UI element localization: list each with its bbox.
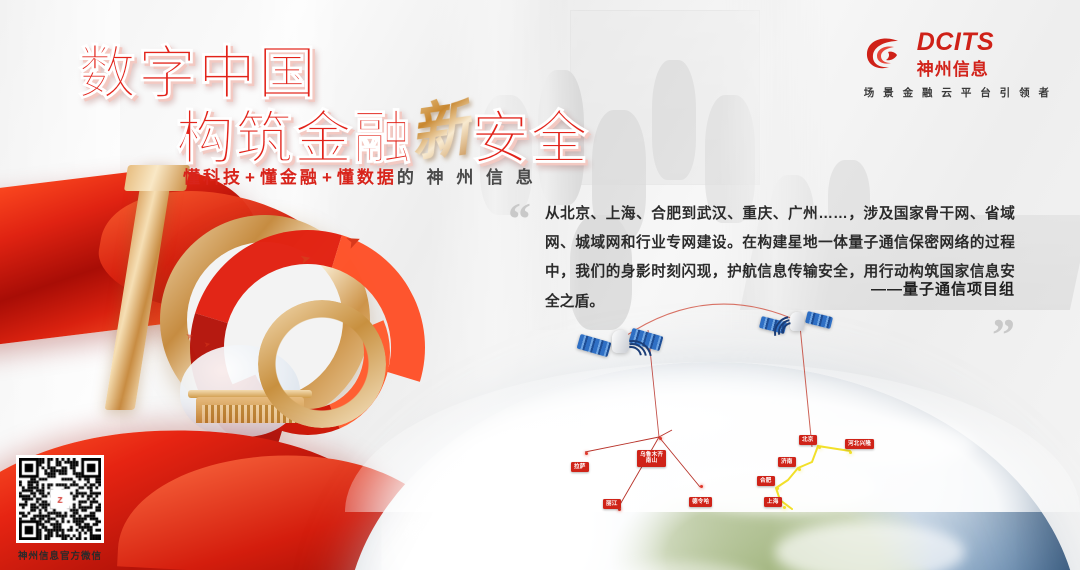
subtitle-company: 的 神 州 信 息 [397,168,537,187]
city-label: 北京 [799,435,817,445]
wechat-qr-block[interactable]: 神州信息官方微信 [16,455,104,562]
logo-text-cn: 神州信息 [917,55,995,80]
subtitle-tech: 懂科技 [183,168,243,187]
logo-tagline: 场 景 金 融 云 平 台 引 领 者 [864,85,1052,100]
city-label: 拉萨 [571,462,589,472]
subtitle-plus-2: + [320,168,337,187]
subtitle-finance: 懂金融 [260,168,320,187]
brand-logo[interactable]: DCITS 神州信息 场 景 金 融 云 平 台 引 领 者 [864,28,1052,100]
quote-close-mark: ” [992,312,1015,358]
earth-globe [345,362,1080,570]
city-dot [818,446,821,449]
city-label: 上海 [764,497,782,507]
gold-inner-ring [258,300,386,428]
city-dot [659,437,662,440]
title-line2-part-a: 构筑金融 [176,106,412,171]
title-line2-part-b: 安全 [471,106,589,171]
quote-open-mark: “ [508,196,531,242]
wechat-qr-code[interactable] [16,455,104,543]
dove-icon: ➤ [203,340,211,349]
subtitle-plus-1: + [243,168,260,187]
city-label: 济南 [778,457,796,467]
city-dot [700,485,703,488]
quote-attribution: ——量子通信项目组 [545,278,1015,299]
city-dot [585,452,588,455]
city-label: 德令哈 [689,497,712,507]
city-dot [849,451,852,454]
page-subtitle: 懂科技+懂金融+懂数据的 神 州 信 息 [183,163,537,188]
subtitle-data: 懂数据 [337,168,397,187]
wechat-qr-caption: 神州信息官方微信 [16,548,104,562]
city-label: 河北兴隆 [845,439,874,449]
city-label: 丽江 [603,499,621,509]
dcits-swoosh-icon [864,34,908,74]
city-label: 合肥 [757,476,775,486]
city-dot [798,468,801,471]
poster-canvas: ➤ ➤ ➤ ➤ [0,0,1080,570]
logo-text-en: DCITS [917,28,995,57]
city-label: 乌鲁木齐南山 [637,450,666,467]
city-dot [783,506,786,509]
title-line2-gold-char: 新 [403,76,478,174]
city-dot [776,487,779,490]
quote-text: 从北京、上海、合肥到武汉、重庆、广州……，涉及国家骨干网、省域网、城域网和行业专… [545,200,1015,317]
